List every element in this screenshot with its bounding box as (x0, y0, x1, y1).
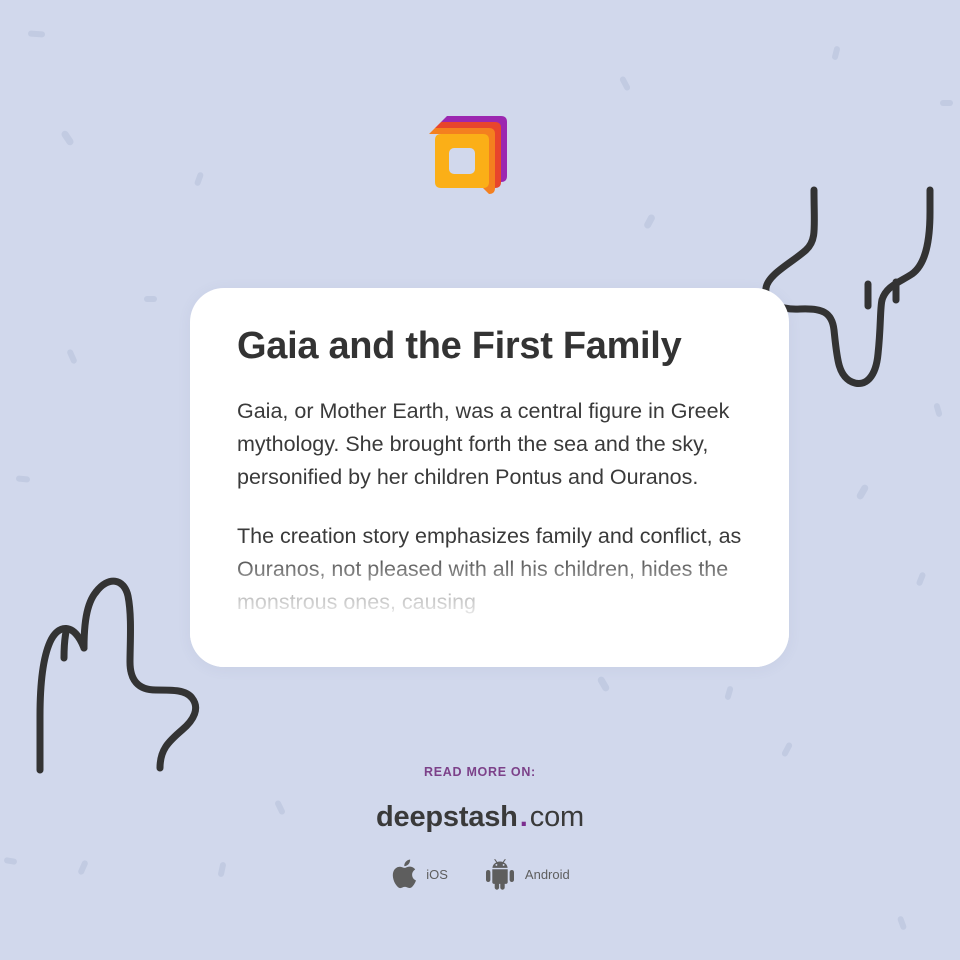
confetti-dash (855, 483, 869, 500)
ios-store-badge[interactable]: iOS (390, 858, 448, 890)
brand-tld: com (530, 801, 584, 833)
confetti-dash (28, 30, 45, 37)
confetti-dash (194, 171, 204, 186)
card-paragraph-2: The creation story emphasizes family and… (237, 520, 742, 619)
read-more-label: READ MORE ON: (0, 765, 960, 779)
android-store-badge[interactable]: Android (484, 858, 570, 890)
card-title: Gaia and the First Family (237, 324, 742, 369)
confetti-dash (144, 296, 157, 302)
brand-dot: . (518, 801, 530, 833)
confetti-dash (831, 45, 840, 60)
card-content: Gaia and the First Family Gaia, or Mothe… (190, 288, 789, 619)
confetti-dash (60, 129, 75, 146)
android-store-label: Android (525, 867, 570, 882)
ios-store-label: iOS (426, 867, 448, 882)
poster-canvas: Gaia and the First Family Gaia, or Mothe… (0, 0, 960, 960)
confetti-dash (897, 915, 907, 930)
android-icon (484, 858, 516, 890)
confetti-dash (940, 100, 953, 106)
confetti-dash (781, 741, 793, 757)
card-paragraph-1: Gaia, or Mother Earth, was a central fig… (237, 395, 742, 494)
confetti-dash (66, 348, 78, 364)
brand-wordmark[interactable]: deepstash.com (0, 803, 960, 832)
pointing-hand-left-illustration (26, 562, 206, 782)
brand-name: deepstash (376, 801, 518, 833)
footer: READ MORE ON: deepstash.com iOS (0, 765, 960, 890)
idea-card: Gaia and the First Family Gaia, or Mothe… (190, 288, 789, 667)
confetti-dash (916, 571, 927, 586)
confetti-dash (643, 213, 656, 230)
apple-icon (390, 858, 417, 890)
store-badges-row: iOS Android (0, 858, 960, 890)
confetti-dash (16, 475, 31, 482)
confetti-dash (933, 402, 943, 417)
confetti-dash (619, 75, 631, 91)
confetti-dash (724, 685, 734, 700)
confetti-dash (596, 675, 610, 692)
deepstash-logo (425, 104, 521, 200)
